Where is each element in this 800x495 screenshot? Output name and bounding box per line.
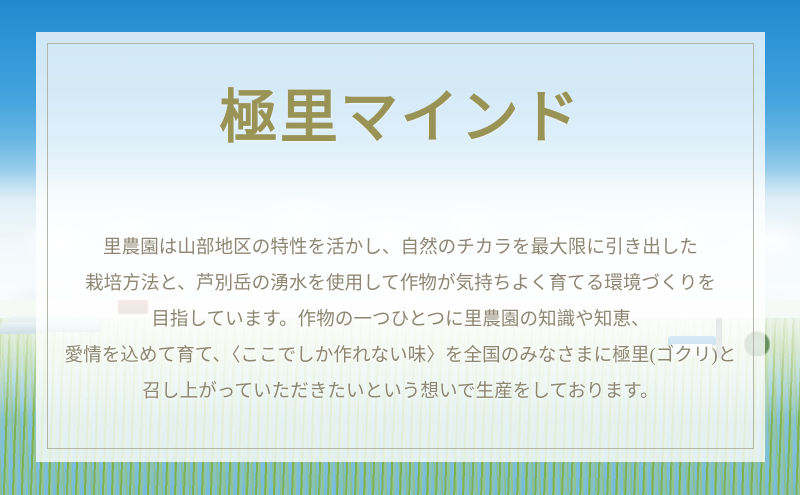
hero-banner: 極里マインド 里農園は山部地区の特性を活かし、自然のチカラを最大限に引き出した … [0, 0, 800, 495]
mission-line: 召し上がっていただきたいという想いで生産をしております。 [51, 374, 751, 410]
page-title: 極里マインド [220, 87, 582, 150]
panel-content: 極里マインド 里農園は山部地区の特性を活かし、自然のチカラを最大限に引き出した … [47, 43, 754, 449]
mission-line: 目指しています。作物の一つひとつに里農園の知識や知恵、 [51, 302, 751, 338]
mission-line: 愛情を込めて育て、〈ここでしか作れない味〉を全国のみなさまに極里(ゴクリ)と [51, 338, 751, 374]
mission-line: 里農園は山部地区の特性を活かし、自然のチカラを最大限に引き出した [51, 230, 751, 266]
mission-statement-paragraph: 里農園は山部地区の特性を活かし、自然のチカラを最大限に引き出した 栽培方法と、芦… [51, 230, 751, 410]
mission-line: 栽培方法と、芦別岳の湧水を使用して作物が気持ちよく育てる環境づくりを [51, 266, 751, 302]
